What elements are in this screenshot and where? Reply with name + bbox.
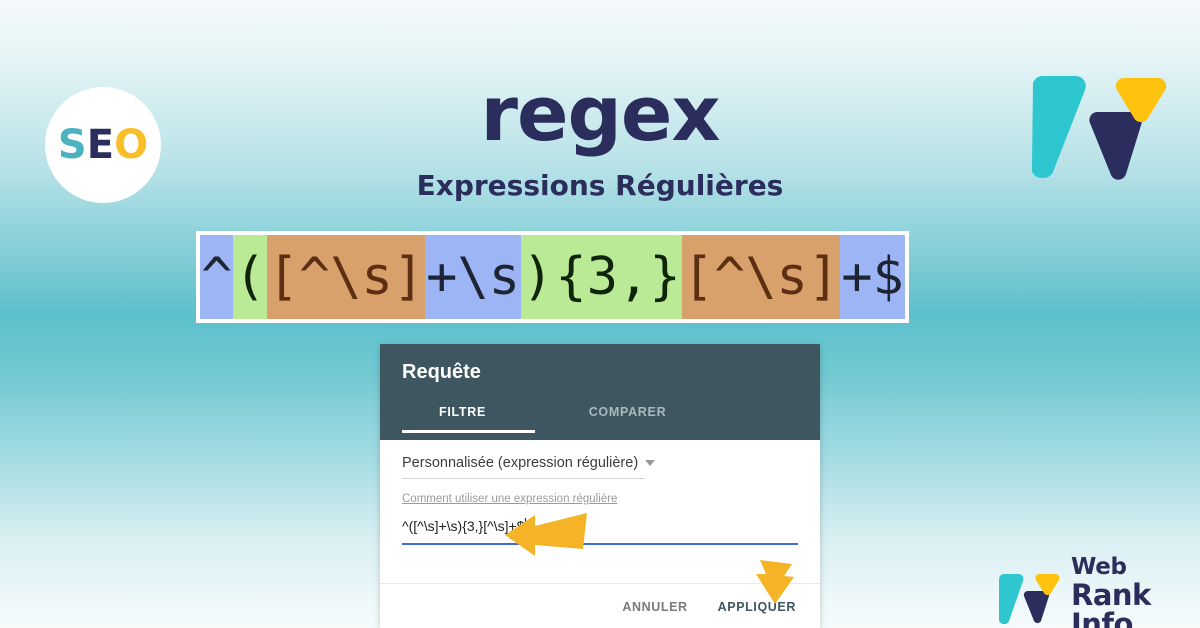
regex-segment: )	[521, 235, 554, 319]
regex-input[interactable]: ^([^\s]+\s){3,}[^\s]+$	[402, 518, 798, 545]
webrankinfo-w-mark-icon	[1032, 68, 1174, 184]
regex-segment: [^\s]	[682, 235, 841, 319]
regex-segment: (	[233, 235, 266, 319]
webrankinfo-wordmark: Web Rank Info	[1071, 556, 1200, 628]
regex-help-link[interactable]: Comment utiliser une expression régulièr…	[402, 494, 617, 506]
tab-filtre[interactable]: FILTRE	[380, 398, 545, 433]
annotation-arrow-to-apply-icon	[752, 560, 798, 604]
tab-comparer[interactable]: COMPARER	[545, 398, 710, 433]
webrankinfo-w-mark-icon	[999, 570, 1061, 626]
page-title: regex	[0, 76, 1200, 152]
dialog-tabs: FILTRE COMPARER	[380, 398, 820, 440]
webrankinfo-footer-logo: Web Rank Info	[999, 556, 1200, 628]
wordmark-line-1: Web	[1071, 556, 1200, 579]
infographic-canvas: SEO regex Expressions Régulières ^ ( [^\…	[0, 0, 1200, 628]
dialog-header: Requête FILTRE COMPARER	[380, 344, 820, 440]
match-type-select[interactable]: Personnalisée (expression régulière)	[402, 456, 645, 479]
regex-segment: {3,}	[554, 235, 681, 319]
regex-segment: +$	[840, 235, 905, 319]
dialog-title: Requête	[402, 362, 481, 382]
regex-pattern-strip: ^ ( [^\s] +\s ) {3,} [^\s] +$	[196, 231, 909, 323]
cancel-button[interactable]: ANNULER	[614, 595, 695, 620]
chevron-down-icon	[645, 460, 655, 466]
wordmark-line-2: Rank Info	[1071, 581, 1200, 628]
annotation-arrow-to-input-icon	[505, 511, 587, 557]
page-subtitle: Expressions Régulières	[0, 172, 1200, 200]
regex-segment: ^	[200, 235, 233, 319]
regex-segment: [^\s]	[267, 235, 426, 319]
regex-segment: +\s	[425, 235, 521, 319]
match-type-select-value: Personnalisée (expression régulière)	[402, 456, 638, 471]
